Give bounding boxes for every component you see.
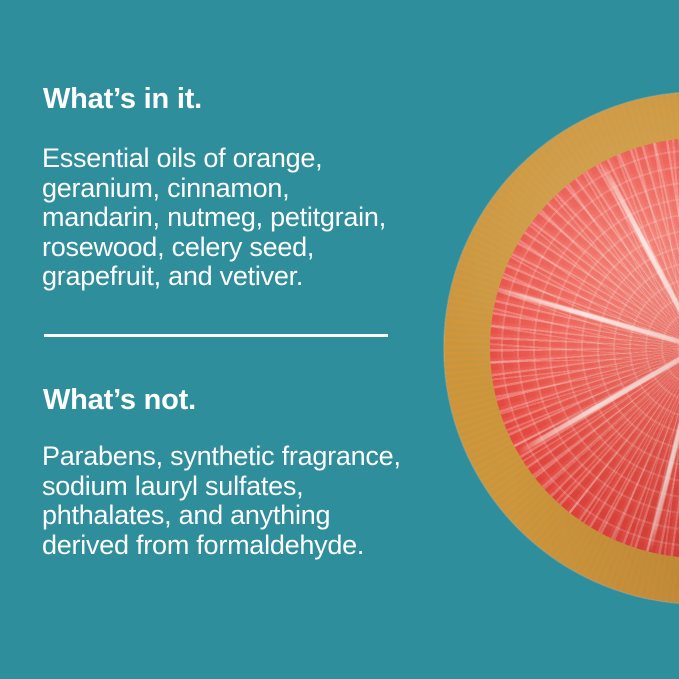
whats-in-it-body: Essential oils of orange, geranium, cinn… [42, 144, 386, 292]
section-divider [44, 334, 388, 337]
whats-not-body: Parabens, synthetic fragrance, sodium la… [42, 442, 401, 560]
whats-not-heading: What’s not. [43, 386, 196, 415]
whats-in-it-heading: What’s in it. [43, 85, 202, 114]
copy-block: What’s in it. Essential oils of orange, … [0, 0, 679, 679]
ingredients-panel: What’s in it. Essential oils of orange, … [0, 0, 679, 679]
